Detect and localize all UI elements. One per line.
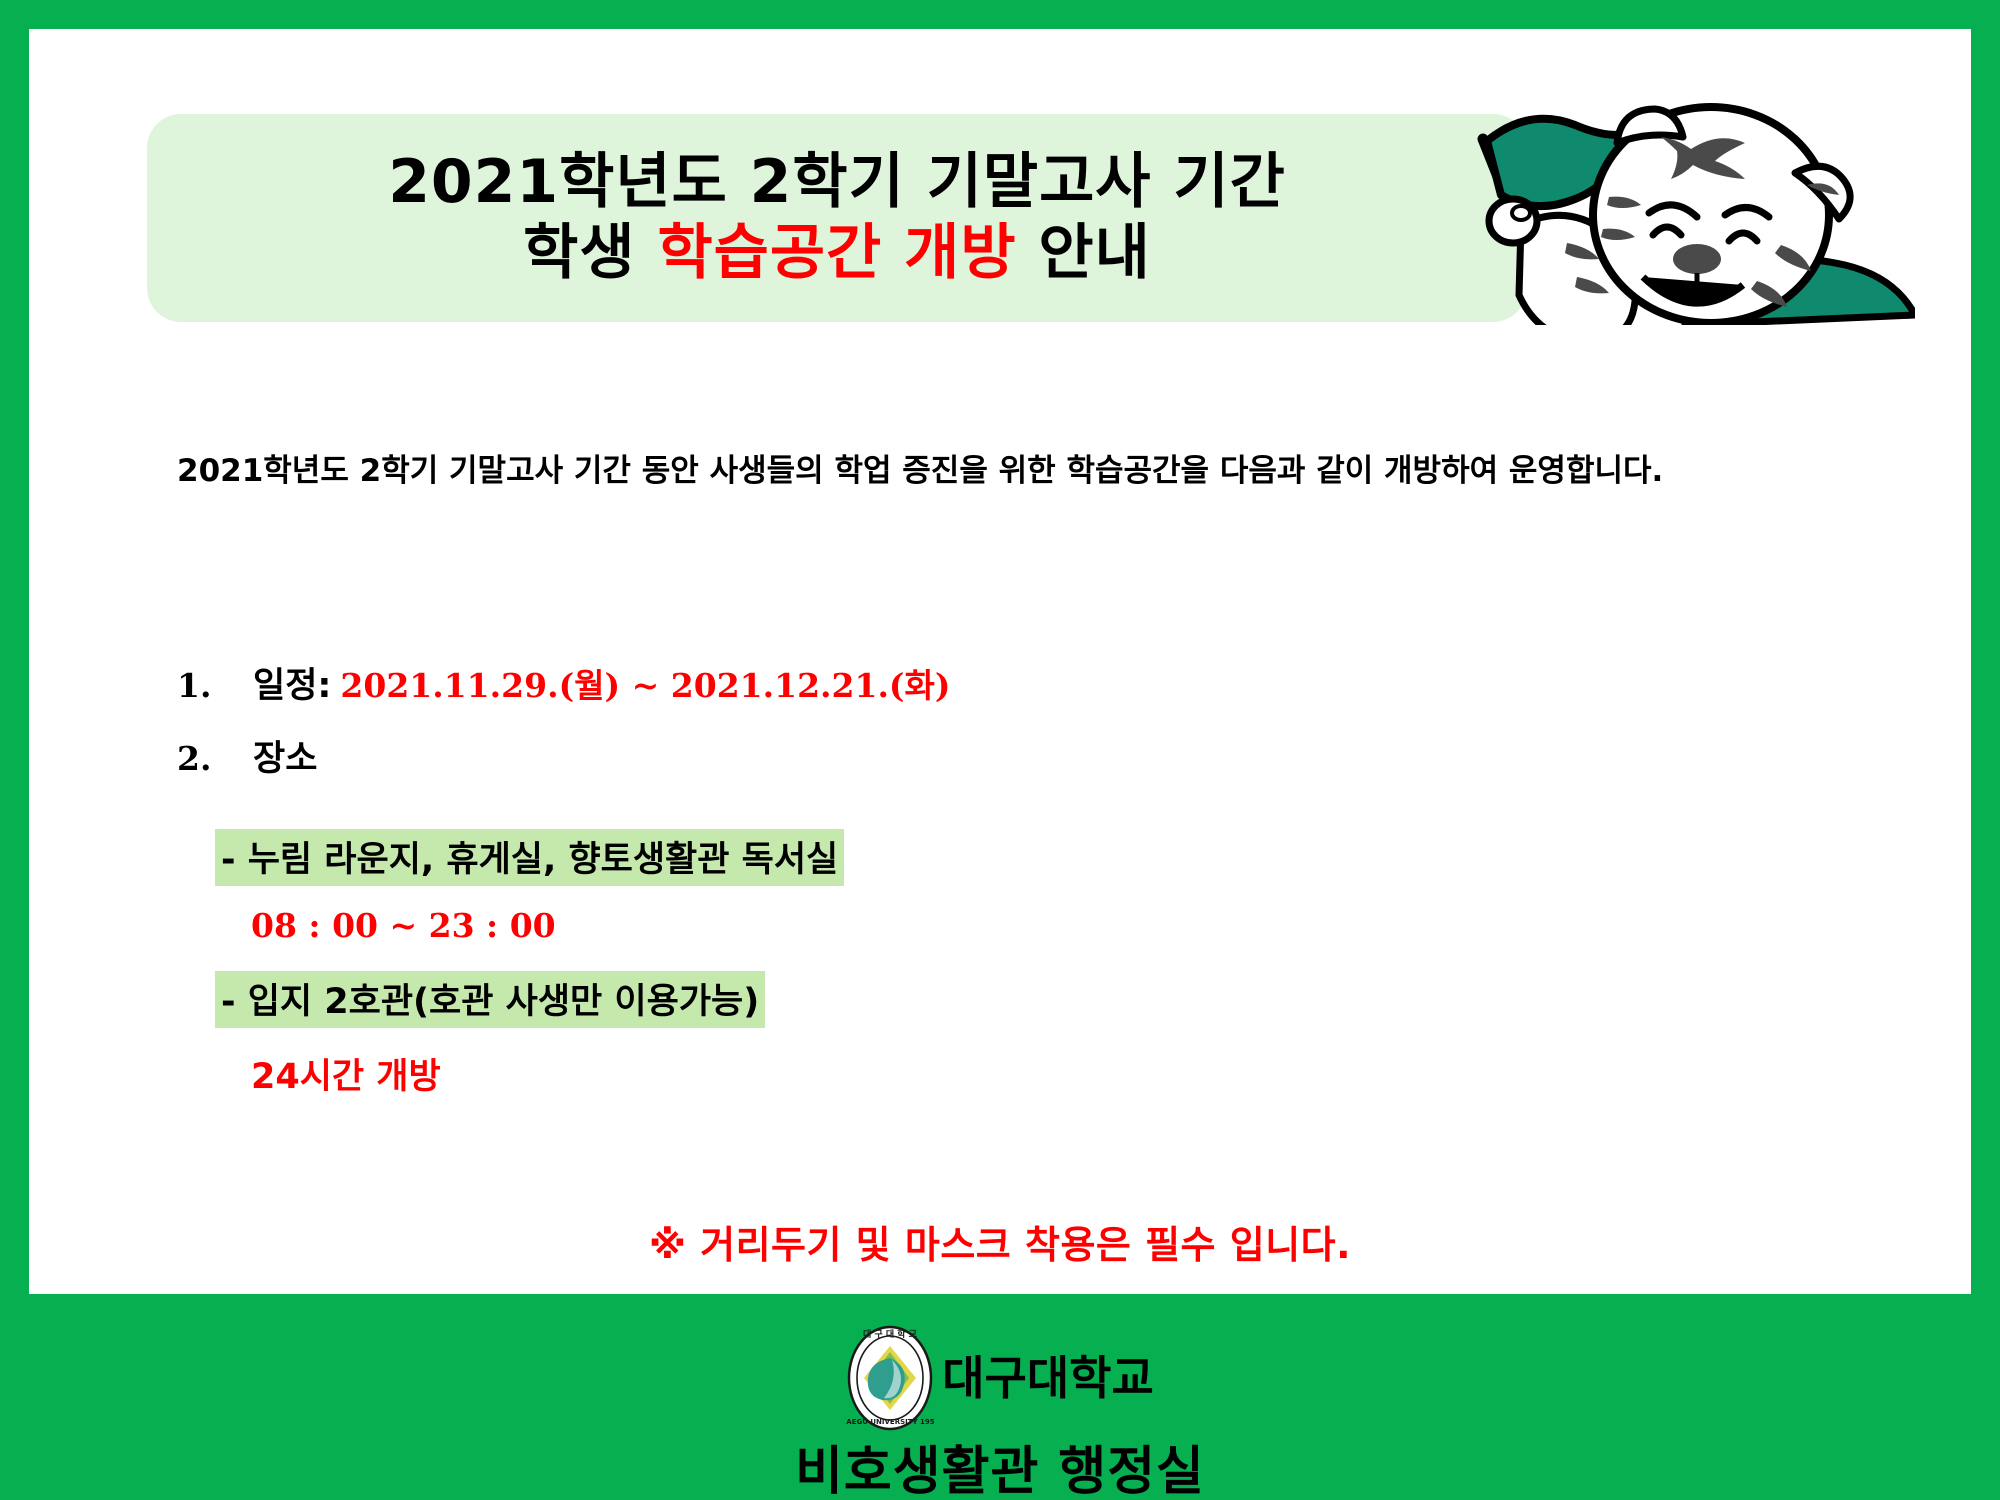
list-item-schedule-number: 1. (177, 666, 253, 705)
list-item-location-label: 장소 (253, 730, 317, 781)
title-banner: 2021학년도 2학기 기말고사 기간 학생 학습공간 개방 안내 (147, 114, 1527, 322)
poster-root: 2021학년도 2학기 기말고사 기간 학생 학습공간 개방 안내 2021학년… (0, 0, 2000, 1500)
footer-university-name: 대구대학교 (942, 1355, 1154, 1401)
svg-text:대 구 대 학 교: 대 구 대 학 교 (863, 1328, 917, 1340)
list-item-location-number: 2. (177, 739, 253, 778)
list-item-schedule: 1. 일정: 2021.11.29.(월) ~ 2021.12.21.(화) (177, 657, 1577, 708)
footer: 대 구 대 학 교 DAEGU UNIVERSITY 1956 대구대학교 비호… (0, 1300, 2000, 1500)
intro-paragraph: 2021학년도 2학기 기말고사 기간 동안 사생들의 학업 증진을 위한 학습… (177, 444, 1877, 499)
daegu-university-emblem-icon: 대 구 대 학 교 DAEGU UNIVERSITY 1956 (846, 1324, 934, 1432)
detail-list: 1. 일정: 2021.11.29.(월) ~ 2021.12.21.(화) 2… (177, 657, 1577, 1099)
footer-organization-row: 대 구 대 학 교 DAEGU UNIVERSITY 1956 대구대학교 (846, 1324, 1154, 1432)
list-item-schedule-label: 일정: (253, 657, 331, 708)
caution-notice: ※ 거리두기 및 마스크 착용은 필수 입니다. (29, 1214, 1971, 1269)
title-line-2-highlight: 학습공간 개방 (657, 218, 1016, 288)
title-line-2-suffix: 안내 (1017, 218, 1151, 288)
place-group-1: - 누림 라운지, 휴게실, 향토생활관 독서실 (177, 803, 1577, 886)
list-item-location: 2. 장소 (177, 730, 1577, 781)
title-line-2-prefix: 학생 (523, 218, 657, 288)
place-name-1: - 누림 라운지, 휴게실, 향토생활관 독서실 (215, 829, 844, 886)
footer-office-name: 비호생활관 행정실 (795, 1446, 1205, 1498)
svg-text:DAEGU UNIVERSITY 1956: DAEGU UNIVERSITY 1956 (846, 1418, 934, 1426)
title-line-1: 2021학년도 2학기 기말고사 기간 (388, 149, 1286, 216)
content-card: 2021학년도 2학기 기말고사 기간 학생 학습공간 개방 안내 2021학년… (29, 29, 1971, 1294)
list-item-schedule-value: 2021.11.29.(월) ~ 2021.12.21.(화) (340, 659, 950, 707)
place-group-2: - 입지 2호관(호관 사생만 이용가능) (177, 945, 1577, 1028)
title-line-2: 학생 학습공간 개방 안내 (523, 220, 1151, 287)
place-hours-2: 24시간 개방 (251, 1048, 1577, 1099)
place-name-2: - 입지 2호관(호관 사생만 이용가능) (215, 971, 765, 1028)
place-hours-1: 08 : 00 ~ 23 : 00 (251, 906, 1577, 945)
